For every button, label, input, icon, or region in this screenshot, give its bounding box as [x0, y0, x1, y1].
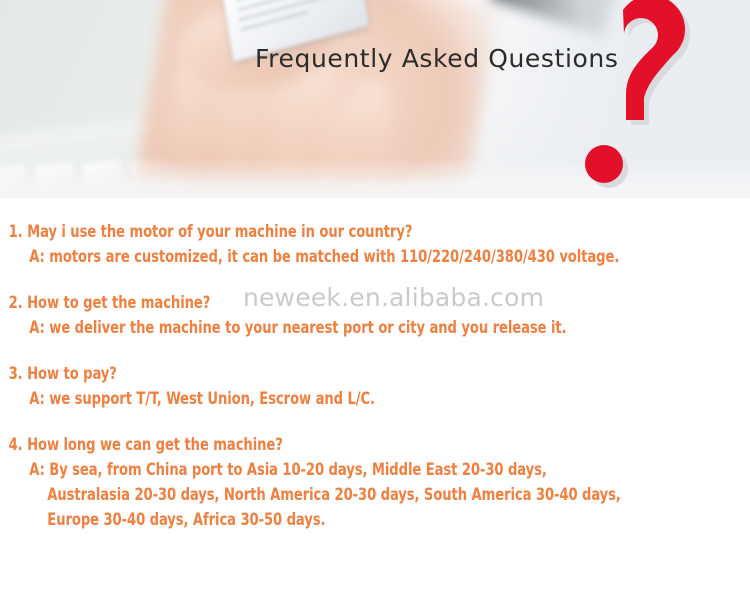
faq-answer-line: A: we deliver the machine to your neares…	[0, 316, 645, 341]
faq-answer-line: A: motors are customized, it can be matc…	[0, 245, 645, 270]
faq-item-4: 4. How long we can get the machine? A: B…	[0, 433, 750, 533]
faq-question: 4. How long we can get the machine?	[0, 433, 645, 458]
faq-answer-line: A: By sea, from China port to Asia 10-20…	[0, 458, 645, 483]
question-mark-icon	[568, 0, 728, 194]
faq-page: Frequently Asked Questions 1. May i use …	[0, 0, 750, 600]
faq-answer-line: A: we support T/T, West Union, Escrow an…	[0, 387, 645, 412]
faq-answer-line: Australasia 20-30 days, North America 20…	[0, 483, 645, 508]
page-title: Frequently Asked Questions	[255, 44, 618, 73]
faq-question: 1. May i use the motor of your machine i…	[0, 220, 645, 245]
faq-banner: Frequently Asked Questions	[0, 0, 750, 198]
spacer	[0, 412, 750, 433]
faq-question: 3. How to pay?	[0, 362, 645, 387]
faq-item-3: 3. How to pay? A: we support T/T, West U…	[0, 362, 750, 412]
faq-answer-line: Europe 30-40 days, Africa 30-50 days.	[0, 508, 645, 533]
keyboard-keys	[0, 74, 586, 198]
watermark: neweek.en.alibaba.com	[243, 283, 544, 312]
faq-content: 1. May i use the motor of your machine i…	[0, 198, 750, 600]
faq-item-1: 1. May i use the motor of your machine i…	[0, 220, 750, 270]
spacer	[0, 341, 750, 362]
